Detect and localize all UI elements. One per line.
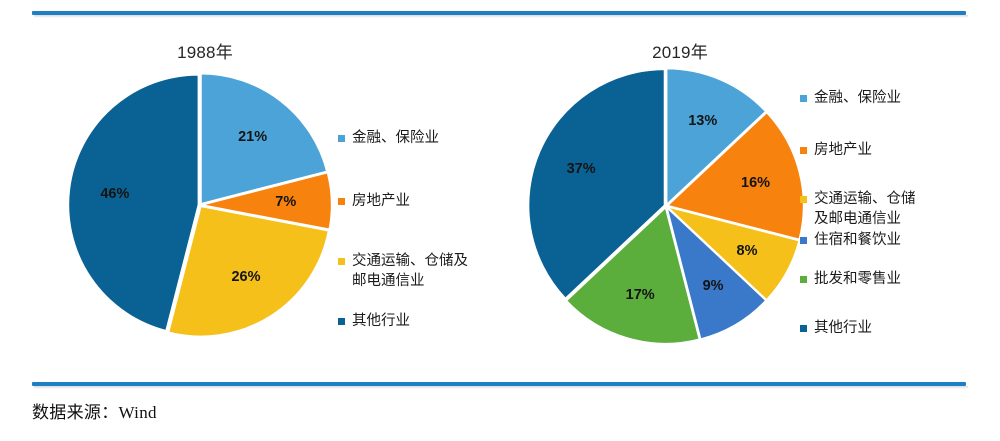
legend-item[interactable]: 批发和零售业 [800, 270, 990, 290]
legend-item[interactable]: 其他行业 [338, 312, 513, 332]
legend-swatch-icon [800, 276, 807, 283]
legend-item[interactable]: 房地产业 [338, 192, 513, 212]
legend-item[interactable]: 金融、保险业 [338, 129, 513, 149]
source-note: 数据来源：Wind [32, 398, 157, 423]
legend-item[interactable]: 住宿和餐饮业 [800, 231, 990, 251]
pie-chart-2019: 13%16%8%9%17%37% [528, 68, 804, 344]
chart-panel-1988: 1988年 21%7%26%46% 金融、保险业房地产业交通运输、仓储及 邮电通… [20, 24, 510, 374]
legend-item[interactable]: 交通运输、仓储及 邮电通信业 [338, 252, 513, 291]
legend-item-label: 批发和零售业 [814, 270, 901, 290]
legend-swatch-icon [338, 318, 345, 325]
top-divider-rule [32, 11, 966, 15]
chart-title-1988: 1988年 [0, 38, 450, 63]
legend-item[interactable]: 房地产业 [800, 141, 990, 161]
legend-swatch-icon [800, 147, 807, 154]
legend-swatch-icon [800, 237, 807, 244]
legend-swatch-icon [338, 258, 345, 265]
legend-item-label: 交通运输、仓储 及邮电通信业 [814, 190, 916, 229]
pie-svg [528, 68, 804, 344]
legend-swatch-icon [800, 196, 807, 203]
legend-item-label: 金融、保险业 [814, 89, 901, 109]
legend-item-label: 其他行业 [814, 319, 872, 339]
pie-svg [67, 72, 333, 338]
legend-item-label: 其他行业 [352, 312, 410, 332]
legend-swatch-icon [338, 198, 345, 205]
legend-item[interactable]: 交通运输、仓储 及邮电通信业 [800, 190, 990, 229]
legend-item-label: 交通运输、仓储及 邮电通信业 [352, 252, 468, 291]
legend-item-label: 金融、保险业 [352, 129, 439, 149]
legend-item-label: 房地产业 [352, 192, 410, 212]
chart-panel-2019: 2019年 13%16%8%9%17%37% 金融、保险业房地产业交通运输、仓储… [500, 24, 990, 374]
legend-swatch-icon [800, 95, 807, 102]
legend-swatch-icon [338, 135, 345, 142]
pie-chart-1988: 21%7%26%46% [67, 72, 333, 338]
bottom-divider-rule [32, 382, 966, 386]
legend-item[interactable]: 其他行业 [800, 319, 990, 339]
chart-title-2019: 2019年 [435, 38, 925, 63]
legend-item[interactable]: 金融、保险业 [800, 89, 990, 109]
legend-item-label: 房地产业 [814, 141, 872, 161]
legend-item-label: 住宿和餐饮业 [814, 231, 901, 251]
legend-swatch-icon [800, 325, 807, 332]
